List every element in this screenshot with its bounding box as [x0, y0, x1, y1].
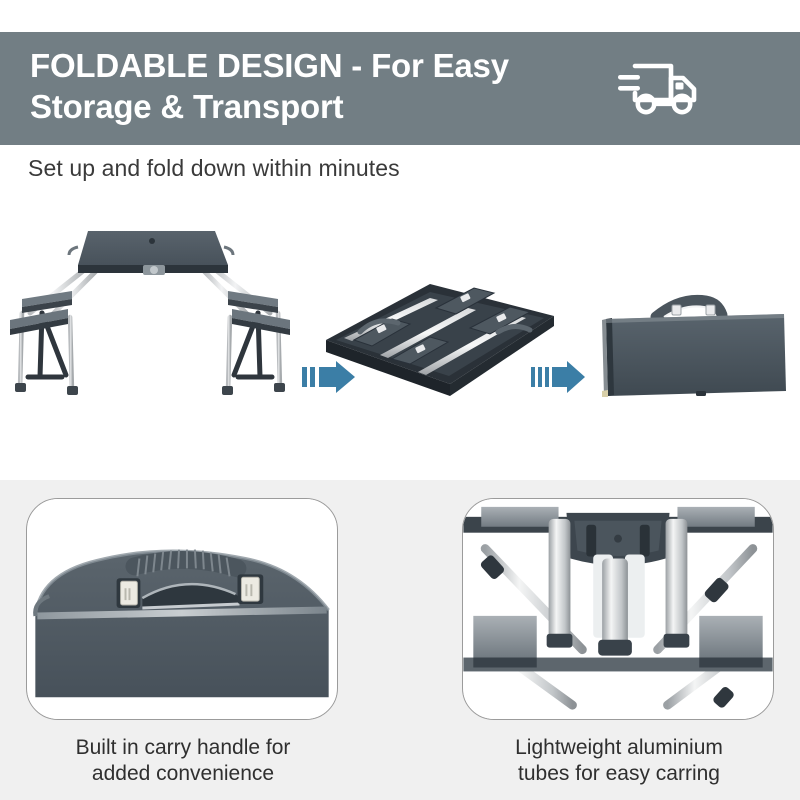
product-image-table-set-up — [0, 205, 300, 405]
steps-row — [0, 205, 800, 440]
feature-card-aluminium-tubes — [462, 498, 774, 720]
feature-card-carry-handle — [26, 498, 338, 720]
delivery-truck-icon — [618, 58, 704, 120]
header-banner: FOLDABLE DESIGN - For Easy Storage & Tra… — [0, 32, 800, 145]
feature-section: Built in carry handle for added convenie… — [0, 480, 800, 800]
product-image-table-folded-flat — [318, 260, 558, 410]
page-title: FOLDABLE DESIGN - For Easy Storage & Tra… — [30, 46, 509, 127]
step-arrow-2-icon — [530, 360, 586, 394]
subtitle: Set up and fold down within minutes — [28, 155, 400, 182]
feature-caption-carry-handle: Built in carry handle for added convenie… — [18, 735, 348, 788]
product-image-table-carry-case — [588, 287, 798, 407]
feature-caption-aluminium-tubes: Lightweight aluminium tubes for easy car… — [454, 735, 784, 788]
